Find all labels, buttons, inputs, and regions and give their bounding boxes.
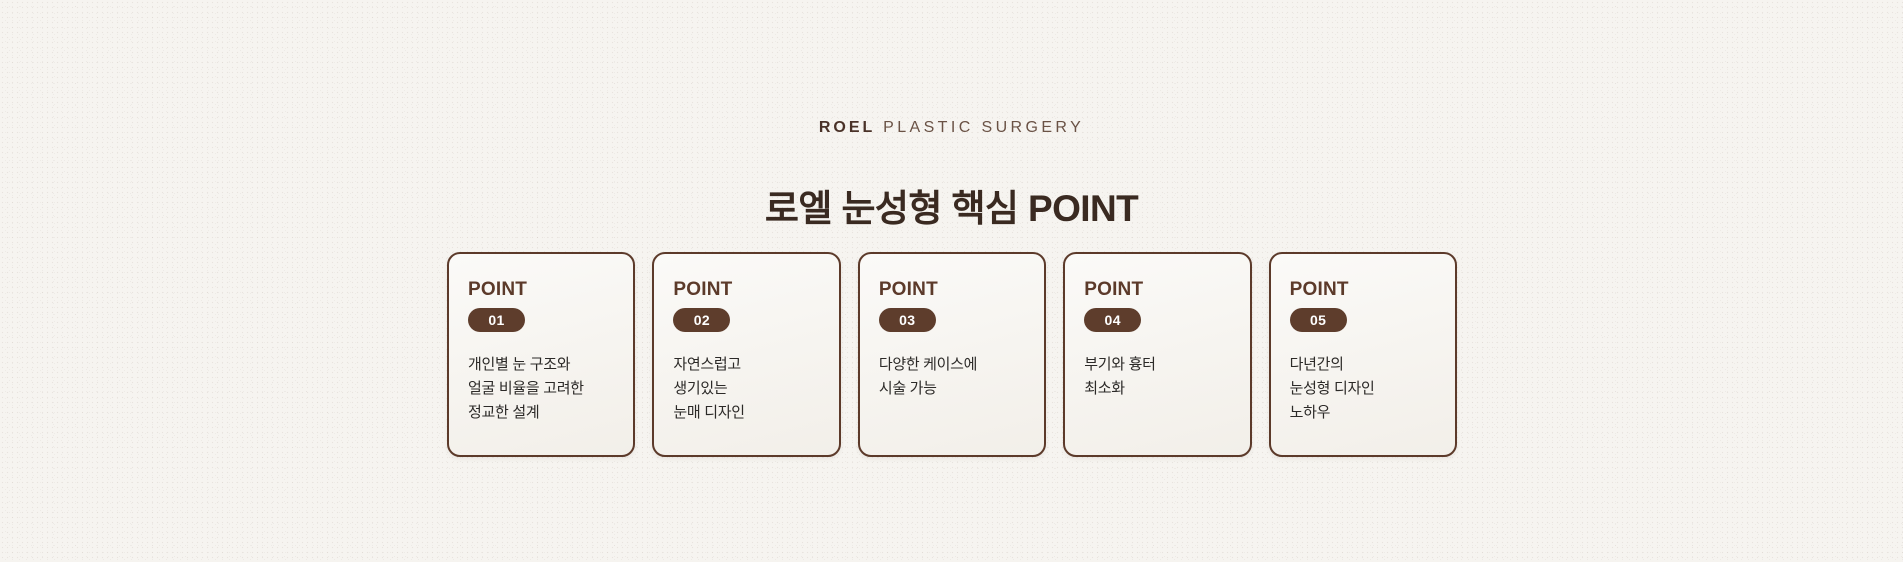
point-section: ROEL PLASTIC SURGERY 로엘 눈성형 핵심 POINT POI… — [0, 0, 1903, 562]
page-title: 로엘 눈성형 핵심 POINT — [0, 185, 1903, 233]
brand-subtitle: PLASTIC SURGERY — [883, 119, 1084, 136]
point-number-badge: 03 — [879, 308, 936, 332]
point-description: 자연스럽고 생기있는 눈매 디자인 — [673, 353, 838, 425]
point-number-badge: 01 — [468, 308, 525, 332]
brand-tagline — [875, 119, 883, 136]
point-number-badge: 05 — [1290, 308, 1347, 332]
point-description: 다년간의 눈성형 디자인 노하우 — [1290, 353, 1455, 425]
point-label: POINT — [673, 279, 838, 301]
point-label: POINT — [879, 279, 1044, 301]
brand-line: ROEL PLASTIC SURGERY — [0, 118, 1903, 138]
point-description: 부기와 흉터 최소화 — [1084, 353, 1249, 401]
point-description: 개인별 눈 구조와 얼굴 비율을 고려한 정교한 설계 — [468, 353, 633, 425]
point-number-badge: 04 — [1084, 308, 1141, 332]
point-label: POINT — [1290, 279, 1455, 301]
point-card-03: POINT 03 다양한 케이스에 시술 가능 — [858, 252, 1046, 457]
point-card-02: POINT 02 자연스럽고 생기있는 눈매 디자인 — [652, 252, 840, 457]
point-card-01: POINT 01 개인별 눈 구조와 얼굴 비율을 고려한 정교한 설계 — [447, 252, 635, 457]
point-number-badge: 02 — [673, 308, 730, 332]
point-card-05: POINT 05 다년간의 눈성형 디자인 노하우 — [1269, 252, 1457, 457]
point-label: POINT — [468, 279, 633, 301]
point-label: POINT — [1084, 279, 1249, 301]
point-card-04: POINT 04 부기와 흉터 최소화 — [1063, 252, 1251, 457]
point-description: 다양한 케이스에 시술 가능 — [879, 353, 1044, 401]
point-card-list: POINT 01 개인별 눈 구조와 얼굴 비율을 고려한 정교한 설계 POI… — [447, 252, 1457, 457]
brand-name: ROEL — [819, 119, 875, 136]
